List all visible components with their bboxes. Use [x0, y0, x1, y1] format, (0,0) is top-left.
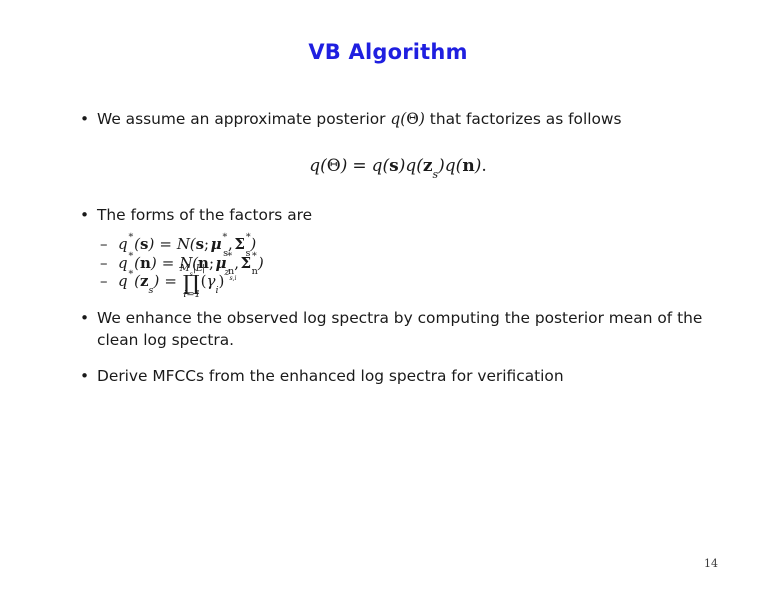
bullet-1-text-before: We assume an approximate posterior	[97, 110, 390, 128]
qn-cov-sigma: Σ	[240, 254, 251, 272]
eq-equals: =	[352, 156, 366, 176]
qs-semicolon: ;	[204, 235, 209, 253]
eq-q1: q	[372, 156, 383, 176]
subbullet-list: – q∗(s)=N(s; μ∗s, Σ∗s) – q∗(n)=N(n; μ∗n,…	[78, 235, 718, 292]
product-upper-M: M	[180, 263, 190, 274]
bullet-list-tail: • We enhance the observed log spectra by…	[78, 307, 718, 387]
bullet-text: We assume an approximate posterior q(Θ) …	[97, 110, 622, 128]
bullet-text: We enhance the observed log spectra by c…	[97, 309, 702, 349]
qn-semicolon: ;	[209, 254, 214, 272]
qz-exponent-sub: s,i	[229, 275, 236, 282]
bullet-text: The forms of the factors are	[97, 206, 312, 224]
bullet-marker-icon: •	[80, 204, 89, 226]
product-upper-L: |L|	[193, 263, 205, 274]
qn-q: q	[118, 254, 128, 272]
product-upper-M-sub: s	[190, 271, 193, 278]
qz-star: ∗	[128, 267, 135, 278]
qz-arg-sub: s	[149, 285, 154, 296]
qn-arg: n	[140, 254, 151, 272]
qs-mean-star: ∗	[222, 230, 229, 241]
page-title: VB Algorithm	[0, 40, 776, 64]
spacer	[78, 130, 718, 154]
eq-period: .	[481, 156, 486, 176]
bullet-item-derive-mfccs: • Derive MFCCs from the enhanced log spe…	[78, 365, 718, 387]
eq-factor-n: n	[462, 156, 474, 176]
qz-equals: =	[164, 272, 177, 290]
qz-gamma-sub: i	[215, 285, 218, 296]
bullet-marker-icon: •	[80, 307, 89, 329]
inline-math-q-theta: q(Θ)	[390, 110, 425, 128]
spacer	[78, 178, 718, 204]
qs-arg: s	[140, 235, 148, 253]
product-operator: Ms|L|∏i=1	[183, 275, 200, 292]
eq-q3: q	[445, 156, 456, 176]
qs-star: ∗	[128, 230, 135, 241]
bullet-item-enhance-spectra: • We enhance the observed log spectra by…	[78, 307, 718, 351]
eq-lhs-q: q	[309, 156, 320, 176]
bullet-item-forms-of-factors: • The forms of the factors are	[78, 204, 718, 226]
qn-star: ∗	[128, 249, 135, 260]
bullet-list-forms: • The forms of the factors are	[78, 204, 718, 226]
qs-mean-mu: μ	[211, 235, 222, 253]
eq-factor-s: s	[389, 156, 399, 176]
qn-cov-star: ∗	[251, 249, 258, 260]
qs-cov-sigma: Σ	[234, 235, 245, 253]
qz-arg: z	[140, 272, 149, 290]
bullet-marker-icon: •	[80, 108, 89, 130]
eq-factor-z-sub: s	[433, 168, 439, 181]
bullet-list: • We assume an approximate posterior q(Θ…	[78, 108, 718, 130]
qz-q: q	[118, 272, 128, 290]
spacer	[78, 292, 718, 307]
spacer	[78, 226, 718, 235]
bullet-1-text-after: that factorizes as follows	[425, 110, 622, 128]
qz-exponent: zs,i	[224, 267, 236, 278]
bullet-text: Derive MFCCs from the enhanced log spect…	[97, 367, 564, 385]
qs-equals: =	[159, 235, 172, 253]
product-lower-limit: i=1	[183, 290, 200, 300]
slide-body: • We assume an approximate posterior q(Θ…	[78, 108, 718, 387]
math-q-star-z: q∗(zs)=Ms|L|∏i=1(γi)zs,i	[118, 272, 237, 290]
page-number: 14	[704, 557, 718, 570]
qn-mean-star: ∗	[226, 249, 233, 260]
slide-canvas: VB Algorithm • We assume an approximate …	[0, 0, 776, 600]
bullet-marker-icon: •	[80, 365, 89, 387]
subbullet-item-q-star-z: – q∗(zs)=Ms|L|∏i=1(γi)zs,i	[100, 272, 718, 292]
subbullet-marker-icon: –	[100, 272, 108, 291]
display-equation-factorization: q(Θ)=q(s)q(zs)q(n).	[78, 154, 718, 178]
subbullet-marker-icon: –	[100, 235, 108, 254]
eq-lhs-theta: Θ	[327, 156, 341, 176]
subbullet-item-q-star-s: – q∗(s)=N(s; μ∗s, Σ∗s)	[100, 235, 718, 254]
equation-body: q(Θ)=q(s)q(zs)q(n).	[309, 156, 486, 176]
qs-q: q	[118, 235, 128, 253]
qs-cov-star: ∗	[245, 230, 252, 241]
product-upper-limit: Ms|L|	[180, 264, 205, 274]
bullet-item-assume-posterior: • We assume an approximate posterior q(Θ…	[78, 108, 718, 130]
qn-equals: =	[162, 254, 175, 272]
qs-dist-N: N	[177, 235, 190, 253]
subbullet-marker-icon: –	[100, 254, 108, 273]
math-q-star-s: q∗(s)=N(s; μ∗s, Σ∗s)	[118, 235, 256, 253]
eq-q2: q	[405, 156, 416, 176]
eq-factor-z: z	[423, 156, 433, 176]
qs-dist-arg: s	[196, 235, 204, 253]
